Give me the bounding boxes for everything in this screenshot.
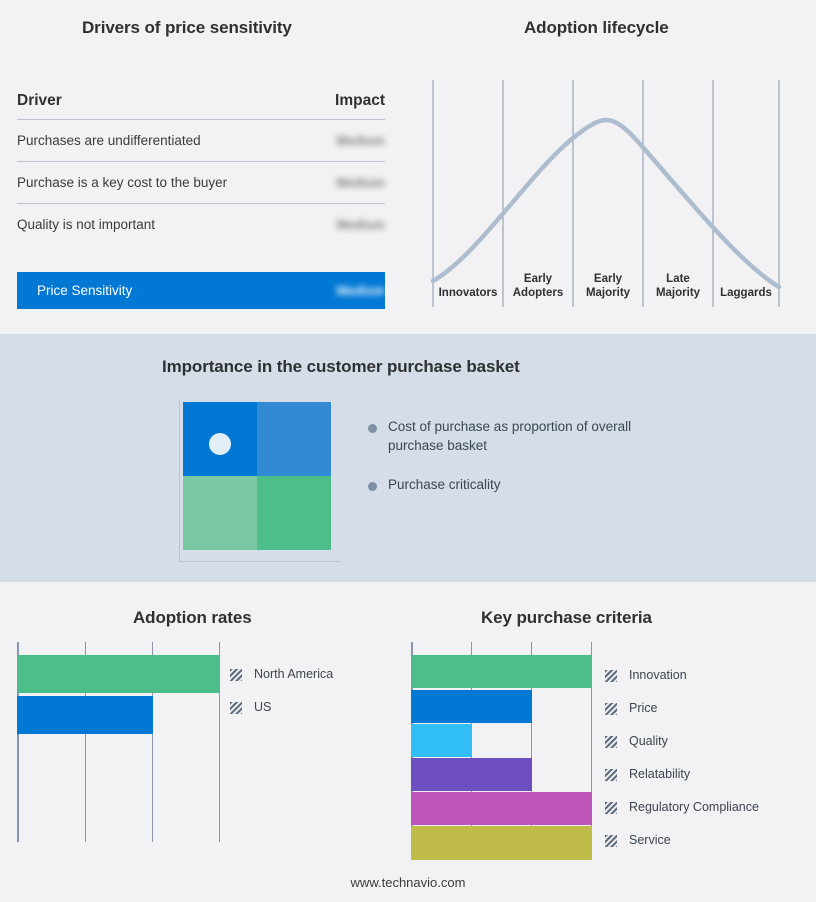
lifecycle-stage-early-majority: Early Majority (573, 273, 643, 300)
legend-item: Regulatory Compliance (605, 790, 759, 823)
purchase-criteria-plot (411, 642, 593, 860)
driver-label: Purchase is a key cost to the buyer (17, 175, 227, 190)
bar-fill (411, 758, 532, 791)
bullet-icon (368, 482, 377, 491)
legend-label: Relatability (629, 767, 690, 781)
bar-regulatory-compliance (411, 792, 593, 825)
column-header-impact: Impact (335, 92, 385, 110)
lifecycle-stage-innovators: Innovators (433, 287, 503, 301)
impact-value: Medium (337, 176, 385, 190)
driver-label: Quality is not important (17, 217, 155, 232)
lifecycle-stage-late-majority: Late Majority (643, 273, 713, 300)
hatch-swatch-icon (605, 834, 617, 846)
bar-fill (411, 690, 532, 723)
legend-item: Innovation (605, 658, 759, 691)
key-purchase-criteria-chart: Innovation Price Quality Relatability (411, 642, 811, 857)
legend-item: US (230, 690, 333, 723)
price-sensitivity-summary-row: Price Sensitivity Medium (17, 272, 385, 309)
table-row: Quality is not important Medium (17, 204, 385, 245)
legend-item: Price (605, 691, 759, 724)
bar-fill (17, 655, 220, 693)
drivers-table: Driver Impact Purchases are undifferenti… (17, 92, 385, 245)
quadrant-position-marker (209, 433, 231, 455)
adoption-rates-chart: North America US (17, 642, 387, 857)
adoption-rates-title: Adoption rates (133, 608, 252, 628)
legend-label: Regulatory Compliance (629, 800, 759, 814)
adoption-rates-legend: North America US (230, 657, 333, 723)
hatch-swatch-icon (605, 669, 617, 681)
bar-quality (411, 724, 593, 757)
bar-fill (411, 724, 472, 757)
drivers-title: Drivers of price sensitivity (82, 18, 292, 38)
adoption-rates-plot (17, 642, 220, 842)
bar-relatability (411, 758, 593, 791)
bar-innovation (411, 655, 593, 688)
basket-title: Importance in the customer purchase bask… (162, 357, 520, 377)
adoption-lifecycle-chart: Innovators Early Adopters Early Majority… (408, 0, 816, 334)
bar-fill (411, 792, 592, 825)
bar-fill (411, 655, 592, 688)
legend-label: Quality (629, 734, 668, 748)
purchase-basket-quadrant (183, 402, 331, 550)
quadrant-cell-bottom-left (183, 476, 257, 550)
list-item: Cost of purchase as proportion of overal… (368, 418, 658, 455)
driver-label: Purchases are undifferentiated (17, 133, 201, 148)
legend-item: Service (605, 823, 759, 856)
hatch-swatch-icon (605, 735, 617, 747)
purchase-criteria-title: Key purchase criteria (481, 608, 652, 628)
bar-price (411, 690, 593, 723)
impact-value: Medium (337, 134, 385, 148)
legend-label: Innovation (629, 668, 687, 682)
footer-url: www.technavio.com (0, 875, 816, 890)
legend-item: Relatability (605, 757, 759, 790)
quadrant-x-axis (179, 561, 341, 562)
bar-service (411, 826, 593, 860)
legend-label: North America (254, 667, 333, 681)
bar-north-america (17, 655, 220, 693)
purchase-criteria-legend: Innovation Price Quality Relatability (605, 658, 759, 856)
hatch-swatch-icon (230, 668, 242, 680)
impact-value: Medium (337, 218, 385, 232)
drivers-table-header: Driver Impact (17, 92, 385, 120)
quadrant-cell-bottom-right (257, 476, 331, 550)
legend-label: Service (629, 833, 671, 847)
infographic-page: Drivers of price sensitivity Driver Impa… (0, 0, 816, 902)
legend-label: US (254, 700, 271, 714)
legend-label: Price (629, 701, 657, 715)
basket-legend: Cost of purchase as proportion of overal… (368, 418, 658, 516)
basket-legend-label: Purchase criticality (388, 477, 501, 492)
column-header-driver: Driver (17, 92, 62, 110)
summary-label: Price Sensitivity (37, 283, 132, 298)
quadrant-cell-top-right (257, 402, 331, 476)
summary-impact-value: Medium (337, 284, 385, 298)
lifecycle-stage-early-adopters: Early Adopters (503, 273, 573, 300)
hatch-swatch-icon (230, 701, 242, 713)
legend-item: North America (230, 657, 333, 690)
table-row: Purchases are undifferentiated Medium (17, 120, 385, 162)
hatch-swatch-icon (605, 768, 617, 780)
bar-fill (411, 826, 592, 860)
table-row: Purchase is a key cost to the buyer Medi… (17, 162, 385, 204)
basket-legend-label: Cost of purchase as proportion of overal… (388, 419, 631, 453)
lifecycle-stage-laggards: Laggards (713, 287, 779, 301)
hatch-swatch-icon (605, 702, 617, 714)
bar-us (17, 696, 220, 734)
bar-fill (17, 696, 153, 734)
quadrant-y-axis (179, 400, 180, 562)
hatch-swatch-icon (605, 801, 617, 813)
list-item: Purchase criticality (368, 476, 658, 495)
legend-item: Quality (605, 724, 759, 757)
bullet-icon (368, 424, 377, 433)
